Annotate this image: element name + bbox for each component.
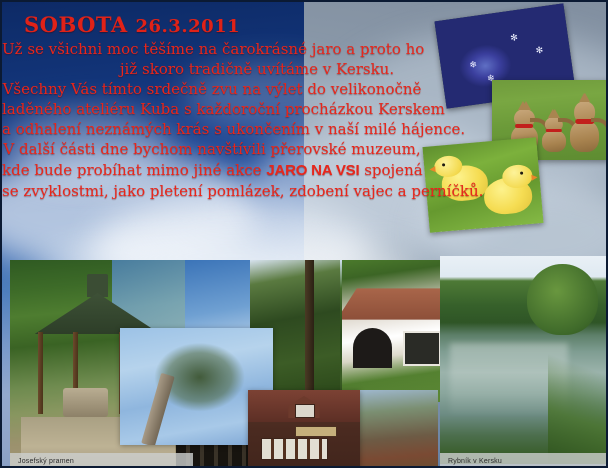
emphasis-text: JARO NA VSI <box>266 162 359 179</box>
body-line-pre: kde bude probíhat mimo jiné akce <box>2 161 266 179</box>
photo-terrace <box>354 390 438 468</box>
body-line: již skoro tradičně uvítáme v Kersku. <box>2 59 422 79</box>
body-line-post: spojená <box>359 161 422 179</box>
body-line-with-emphasis: kde bude probíhat mimo jiné akce JARO NA… <box>2 160 422 181</box>
caption-right: Rybník v Kersku <box>440 453 608 468</box>
headline-word: SOBOTA <box>24 12 128 37</box>
body-line: a odhalení neznámých krás s ukončením v … <box>2 119 422 139</box>
headline-date: 26.3.2011 <box>135 16 240 37</box>
poster: ✻ ✻ ❄ ❄ <box>0 0 608 468</box>
body-line: Už se všichni moc těšíme na čarokrásné j… <box>2 39 422 59</box>
caption-left: Josefský pramen <box>10 453 193 468</box>
photo-wooden-cottage <box>248 390 360 468</box>
page-title: SOBOTA 26.3.2011 <box>24 12 422 37</box>
body-line: laděného ateliéru Kuba s každoroční proc… <box>2 99 422 119</box>
body-line: V další části dne bychom navštívili přer… <box>2 139 422 159</box>
photo-strip: Josefský pramen Rybník v Kersku <box>2 250 608 468</box>
invitation-text: SOBOTA 26.3.2011 Už se všichni moc těším… <box>2 2 422 201</box>
photo-pond <box>440 256 608 464</box>
body-line: se zvyklostmi, jako pletení pomlázek, zd… <box>2 181 422 201</box>
body-line: Všechny Vás tímto srdečně zvu na výlet d… <box>2 79 422 99</box>
